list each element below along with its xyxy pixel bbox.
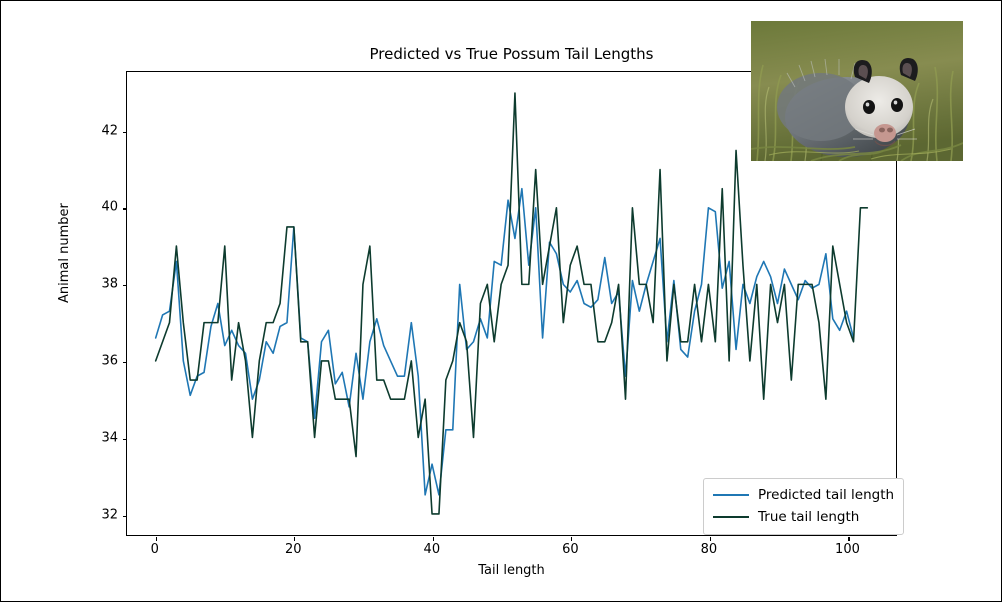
x-tick-mark [156, 537, 157, 541]
legend-swatch-true [713, 516, 749, 518]
y-tick-label: 38 [78, 277, 118, 292]
possum-photo-graphic [751, 21, 963, 161]
y-tick-mark [123, 285, 127, 286]
x-tick-label: 0 [133, 542, 177, 557]
x-tick-label: 80 [687, 542, 731, 557]
legend-label-true: True tail length [758, 509, 859, 525]
x-tick-mark [294, 537, 295, 541]
y-tick-mark [123, 439, 127, 440]
y-tick-mark [123, 362, 127, 363]
y-tick-label: 34 [78, 431, 118, 446]
y-tick-label: 40 [78, 200, 118, 215]
y-tick-mark [123, 132, 127, 133]
x-axis-label: Tail length [126, 563, 897, 578]
legend-item-true[interactable]: True tail length [713, 506, 894, 528]
x-tick-mark [848, 537, 849, 541]
y-tick-mark [123, 208, 127, 209]
y-axis-label: Animal number [57, 203, 72, 303]
legend-swatch-predicted [713, 494, 749, 496]
x-tick-mark [571, 537, 572, 541]
figure-canvas: Predicted vs True Possum Tail Lengths An… [0, 0, 1002, 602]
x-tick-label: 20 [271, 542, 315, 557]
possum-photo [751, 21, 963, 161]
x-tick-label: 40 [410, 542, 454, 557]
y-tick-label: 42 [78, 123, 118, 138]
x-tick-label: 100 [825, 542, 869, 557]
legend-label-predicted: Predicted tail length [758, 487, 894, 503]
x-tick-label: 60 [548, 542, 592, 557]
chart-legend[interactable]: Predicted tail length True tail length [703, 478, 904, 535]
x-tick-mark [433, 537, 434, 541]
y-tick-label: 36 [78, 354, 118, 369]
y-tick-label: 32 [78, 507, 118, 522]
legend-item-predicted[interactable]: Predicted tail length [713, 484, 894, 506]
x-tick-mark [710, 537, 711, 541]
y-tick-mark [123, 516, 127, 517]
